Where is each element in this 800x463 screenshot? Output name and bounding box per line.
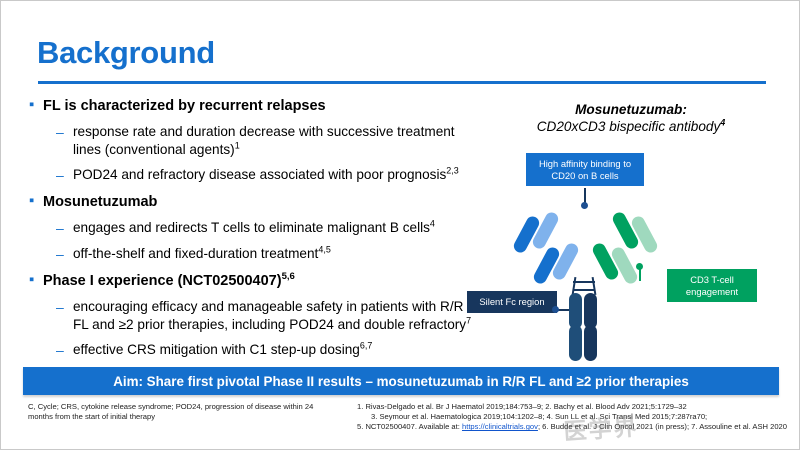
bullet-dot-icon: ▪	[29, 192, 43, 210]
reference-marker: 6,7	[360, 340, 372, 350]
sub-bullet-item: – engages and redirects T cells to elimi…	[56, 219, 499, 237]
sub-bullet-text: effective CRS mitigation with C1 step-up…	[73, 341, 372, 359]
antibody-diagram: Mosunetuzumab: CD20xCD3 bispecific antib…	[471, 101, 791, 351]
aim-banner: Aim: Share first pivotal Phase II result…	[23, 367, 779, 395]
dash-icon: –	[56, 341, 73, 359]
callout-silent-fc: Silent Fc region	[467, 291, 557, 313]
reference-line: 1. Rivas-Delgado et al. Br J Haematol 20…	[357, 402, 797, 412]
reference-marker: 4	[720, 117, 725, 127]
callout-leader-line	[639, 269, 641, 281]
reference-marker: 2,3	[446, 165, 458, 175]
page-title: Background	[37, 35, 215, 71]
reference-line: 3. Seymour et al. Haematologica 2019;104…	[357, 412, 797, 422]
callout-leader-dot	[581, 202, 588, 209]
sub-bullet-item: – POD24 and refractory disease associate…	[56, 166, 499, 184]
sub-bullet-text: engages and redirects T cells to elimina…	[73, 219, 435, 237]
sub-bullet-item: – off-the-shelf and fixed-duration treat…	[56, 245, 499, 263]
bullet-dot-icon: ▪	[29, 96, 43, 114]
bullet-text: Phase I experience (NCT02500407)5,6	[43, 272, 295, 290]
figure-title: Mosunetuzumab: CD20xCD3 bispecific antib…	[471, 101, 791, 135]
reference-marker: 1	[235, 140, 240, 150]
dash-icon: –	[56, 219, 73, 237]
reference-marker: 4	[430, 218, 435, 228]
reference-line: 5. NCT02500407. Available at: https://cl…	[357, 422, 797, 432]
slide: Background ▪ FL is characterized by recu…	[0, 0, 800, 450]
clinicaltrials-link[interactable]: https://clinicaltrials.gov	[462, 422, 538, 431]
title-divider	[38, 81, 766, 84]
dash-icon: –	[56, 245, 73, 263]
callout-leader-dot	[552, 306, 559, 313]
sub-bullet-item: – encouraging efficacy and manageable sa…	[56, 298, 499, 333]
callout-cd20-binding: High affinity binding to CD20 on B cells	[526, 153, 644, 186]
sub-bullet-text: POD24 and refractory disease associated …	[73, 166, 459, 184]
reference-list: 1. Rivas-Delgado et al. Br J Haematol 20…	[357, 402, 797, 433]
sub-bullet-item: – response rate and duration decrease wi…	[56, 123, 499, 158]
bullet-item: ▪ FL is characterized by recurrent relap…	[29, 97, 499, 115]
abbreviations-note: C, Cycle; CRS, cytokine release syndrome…	[28, 402, 328, 422]
fc-domain-right-lower	[584, 325, 597, 361]
sub-bullet-text: response rate and duration decrease with…	[73, 123, 473, 158]
bullet-dot-icon: ▪	[29, 271, 43, 289]
sub-bullet-text: encouraging efficacy and manageable safe…	[73, 298, 473, 333]
bullet-list: ▪ FL is characterized by recurrent relap…	[29, 97, 499, 359]
bullet-text: FL is characterized by recurrent relapse…	[43, 97, 326, 115]
bullet-text: Mosunetuzumab	[43, 193, 157, 211]
reference-marker: 5,6	[282, 271, 295, 282]
reference-marker: 4,5	[318, 244, 330, 254]
dash-icon: –	[56, 123, 73, 141]
fc-domain-left-upper	[569, 293, 582, 329]
sub-bullet-text: off-the-shelf and fixed-duration treatme…	[73, 245, 331, 263]
bullet-item: ▪ Phase I experience (NCT02500407)5,6	[29, 272, 499, 290]
dash-icon: –	[56, 166, 73, 184]
bullet-item: ▪ Mosunetuzumab	[29, 193, 499, 211]
fc-domain-right-upper	[584, 293, 597, 329]
sub-bullet-item: – effective CRS mitigation with C1 step-…	[56, 341, 499, 359]
fc-domain-left-lower	[569, 325, 582, 361]
callout-cd3-engagement: CD3 T-cell engagement	[667, 269, 757, 302]
callout-leader-dot	[636, 263, 643, 270]
dash-icon: –	[56, 298, 73, 316]
